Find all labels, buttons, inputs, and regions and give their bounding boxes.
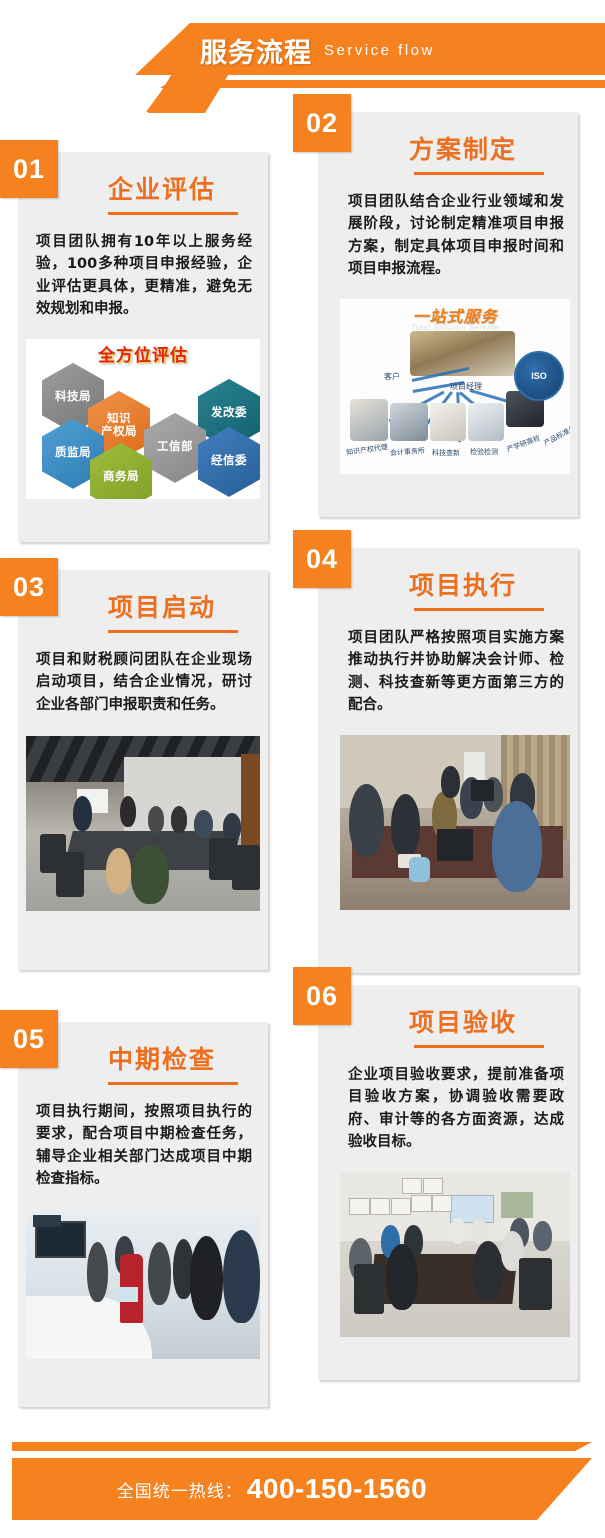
step-description: 项目团队严格按照项目实施方案推动执行并协助解决会计师、检测、科技查新等更方面第三… [318, 611, 578, 731]
oss-thumb-2 [390, 403, 428, 441]
footer-accent-line [12, 1442, 592, 1451]
oss-label-tech-search: 科技查新 [432, 448, 460, 458]
step-description: 项目团队拥有10年以上服务经验，100多种项目申报经验，企业评估更具体，更精准，… [18, 215, 268, 335]
iso-badge-icon: ISO [514, 351, 564, 401]
page-subtitle: Service flow [324, 42, 435, 59]
hexagon-diagram-caption: 全方位评估 [98, 341, 188, 366]
hotline-label: 全国统一热线： [117, 1477, 243, 1502]
oss-label-inspection: 检验检测 [470, 447, 498, 457]
oss-thumb-4 [468, 403, 504, 441]
step-card-05[interactable]: 05 中期检查 项目执行期间，按照项目执行的要求，配合项目中期检查任务，辅导企业… [18, 1022, 268, 1407]
step-description: 项目团队结合企业行业领域和发展阶段，讨论制定精准项目申报方案，制定具体项目申报时… [318, 175, 578, 295]
step-title: 方案制定 [318, 112, 578, 166]
oss-thumb-3 [430, 403, 466, 441]
service-flow-poster: 服务流程 Service flow 01 企业评估 项目团队拥有10年以上服务经… [0, 0, 605, 1538]
hotline-number[interactable]: 400-150-1560 [247, 1473, 427, 1505]
step-number-badge: 02 [293, 94, 351, 152]
step-description: 项目执行期间，按照项目执行的要求，配合项目中期检查任务，辅导企业相关部门达成项目… [18, 1085, 268, 1205]
step-number-badge: 03 [0, 558, 58, 616]
step-number-badge: 06 [293, 967, 351, 1025]
hotline-group: 全国统一热线： 400-150-1560 [12, 1458, 532, 1520]
step-card-06[interactable]: 06 项目验收 企业项目验收要求，提前准备项目验收方案，协调验收需要政府、审计等… [318, 985, 578, 1380]
midterm-inspection-photo [26, 1209, 260, 1359]
oss-label-university: 产学研高校 [505, 433, 541, 454]
project-execution-photo [340, 735, 570, 910]
oss-label-accounting: 会计事务所 [390, 446, 426, 458]
project-acceptance-photo [340, 1172, 570, 1337]
step-card-04[interactable]: 04 项目执行 项目团队严格按照项目实施方案推动执行并协助解决会计师、检测、科技… [318, 548, 578, 973]
project-kickoff-photo [26, 736, 260, 911]
step-title: 项目执行 [318, 548, 578, 602]
oss-label-standard-filing: 产品标准备案 [542, 420, 570, 449]
header-title-group: 服务流程 Service flow [200, 30, 605, 70]
step-description: 项目和财税顾问团队在企业现场启动项目，结合企业情况，研讨企业各部门申报职责和任务… [18, 633, 268, 730]
oss-label-ip-agency: 知识产权代理 [346, 442, 389, 458]
step-description: 企业项目验收要求，提前准备项目验收方案，协调验收需要政府、审计等的各方面资源，达… [318, 1048, 578, 1168]
oss-node-project-manager: 项目经理 [450, 381, 482, 392]
step-title: 项目验收 [318, 985, 578, 1039]
assessment-hexagon-image: 全方位评估 科技局 知识 产权局 发改委 质监局 工信部 商务局 [26, 339, 260, 499]
hexagon-gongxin-bu: 工信部 [144, 413, 206, 483]
step-number-badge: 04 [293, 530, 351, 588]
oss-node-customer: 客户 [384, 371, 400, 382]
oss-thumb-1 [350, 399, 388, 441]
header-accent-line [160, 80, 605, 88]
step-card-03[interactable]: 03 项目启动 项目和财税顾问团队在企业现场启动项目，结合企业情况，研讨企业各部… [18, 570, 268, 970]
step-number-badge: 01 [0, 140, 58, 198]
page-footer: 全国统一热线： 400-150-1560 [0, 1420, 605, 1538]
step-card-01[interactable]: 01 企业评估 项目团队拥有10年以上服务经验，100多种项目申报经验，企业评估… [18, 152, 268, 542]
hexagon-jingxin-wei: 经信委 [198, 427, 260, 497]
step-card-02[interactable]: 02 方案制定 项目团队结合企业行业领域和发展阶段，讨论制定精准项目申报方案，制… [318, 112, 578, 517]
one-stop-service-image: 一站式服务 Total Solution Service 客户 项目经理 [340, 299, 570, 474]
page-title: 服务流程 [200, 31, 312, 70]
step-number-badge: 05 [0, 1010, 58, 1068]
